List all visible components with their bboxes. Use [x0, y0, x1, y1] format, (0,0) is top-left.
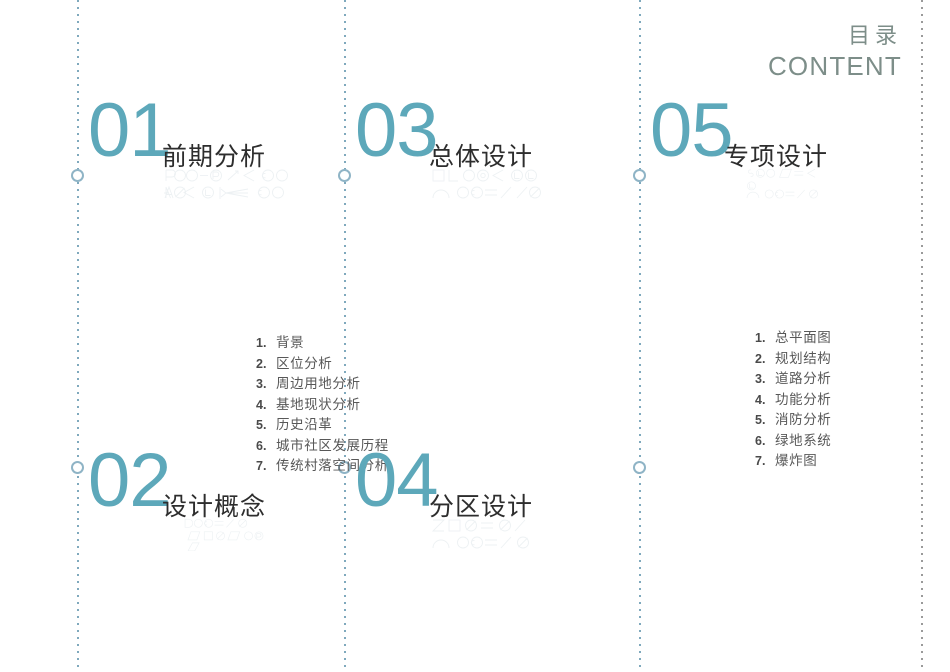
section-05-number: 05: [650, 93, 733, 169]
section-04-title: 分区设计: [429, 487, 533, 523]
list-item-label: 历史沿革: [276, 417, 332, 432]
list-item-index: 3.: [256, 375, 276, 395]
list-item-label: 区位分析: [276, 356, 332, 371]
node-marker-03: [338, 169, 351, 182]
section-02-title: 设计概念: [162, 487, 266, 523]
page-title-en: CONTENT: [768, 53, 902, 80]
timeline-rail-column-3: [639, 0, 641, 672]
list-item-label: 背景: [276, 335, 304, 350]
list-item[interactable]: 5.历史沿革: [256, 415, 389, 436]
timeline-rail-right-edge: [921, 0, 923, 672]
list-item-index: 1.: [755, 329, 775, 349]
node-marker-01: [71, 169, 84, 182]
list-item[interactable]: 3.周边用地分析: [256, 374, 389, 395]
list-item[interactable]: 1.背景: [256, 333, 389, 354]
list-item-label: 周边用地分析: [276, 376, 361, 391]
list-item[interactable]: 5.消防分析: [755, 410, 831, 431]
list-item-label: 规划结构: [775, 351, 831, 366]
section-03-title: 总体设计: [429, 137, 533, 173]
list-item[interactable]: 3.道路分析: [755, 369, 831, 390]
list-item[interactable]: 7.爆炸图: [755, 451, 831, 472]
section-05-title: 专项设计: [724, 137, 828, 173]
list-item-label: 绿地系统: [775, 433, 831, 448]
list-item-label: 爆炸图: [775, 453, 817, 468]
page-title-cn: 目录: [768, 24, 902, 47]
section-03-item-list: 1.总平面图2.规划结构3.道路分析4.功能分析5.消防分析6.绿地系统7.爆炸…: [755, 328, 831, 472]
list-item-index: 5.: [256, 416, 276, 436]
list-item-index: 4.: [256, 396, 276, 416]
section-01-number: 01: [88, 93, 171, 169]
section-02-number: 02: [88, 443, 171, 519]
list-item-label: 功能分析: [775, 392, 831, 407]
list-item[interactable]: 2.规划结构: [755, 349, 831, 370]
list-item[interactable]: 1.总平面图: [755, 328, 831, 349]
content-slide: 目录 CONTENT 01 前期分析: [0, 0, 950, 672]
node-marker-06: [633, 461, 646, 474]
list-item-index: 4.: [755, 391, 775, 411]
list-item-index: 2.: [256, 355, 276, 375]
list-item-index: 2.: [755, 350, 775, 370]
node-marker-02: [71, 461, 84, 474]
list-item-index: 6.: [755, 432, 775, 452]
list-item-index: 5.: [755, 411, 775, 431]
list-item-index: 1.: [256, 334, 276, 354]
list-item[interactable]: 4.功能分析: [755, 390, 831, 411]
section-04-number: 04: [355, 443, 438, 519]
timeline-rail-column-1: [77, 0, 79, 672]
node-marker-05: [633, 169, 646, 182]
list-item-index: 3.: [755, 370, 775, 390]
list-item-index: 7.: [256, 457, 276, 477]
list-item-index: 6.: [256, 437, 276, 457]
list-item-label: 消防分析: [775, 412, 831, 427]
list-item[interactable]: 6.绿地系统: [755, 431, 831, 452]
section-01-title: 前期分析: [162, 137, 266, 173]
list-item-index: 7.: [755, 452, 775, 472]
list-item-label: 道路分析: [775, 371, 831, 386]
list-item[interactable]: 4.基地现状分析: [256, 395, 389, 416]
section-03-number: 03: [355, 93, 438, 169]
slide-header: 目录 CONTENT: [768, 24, 902, 80]
list-item-label: 基地现状分析: [276, 397, 361, 412]
list-item-label: 总平面图: [775, 330, 831, 345]
list-item[interactable]: 2.区位分析: [256, 354, 389, 375]
